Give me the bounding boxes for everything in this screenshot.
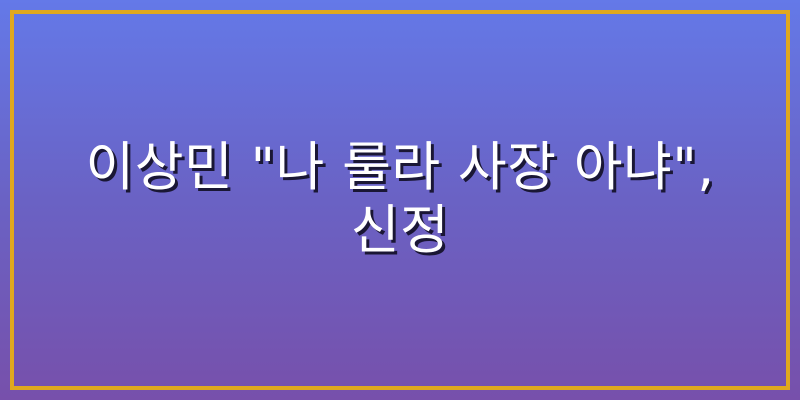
title-container: 이상민 "나 룰라 사장 아냐", 신정	[0, 0, 800, 400]
article-title-banner: 이상민 "나 룰라 사장 아냐", 신정	[0, 0, 800, 400]
page-title: 이상민 "나 룰라 사장 아냐", 신정	[60, 137, 740, 262]
